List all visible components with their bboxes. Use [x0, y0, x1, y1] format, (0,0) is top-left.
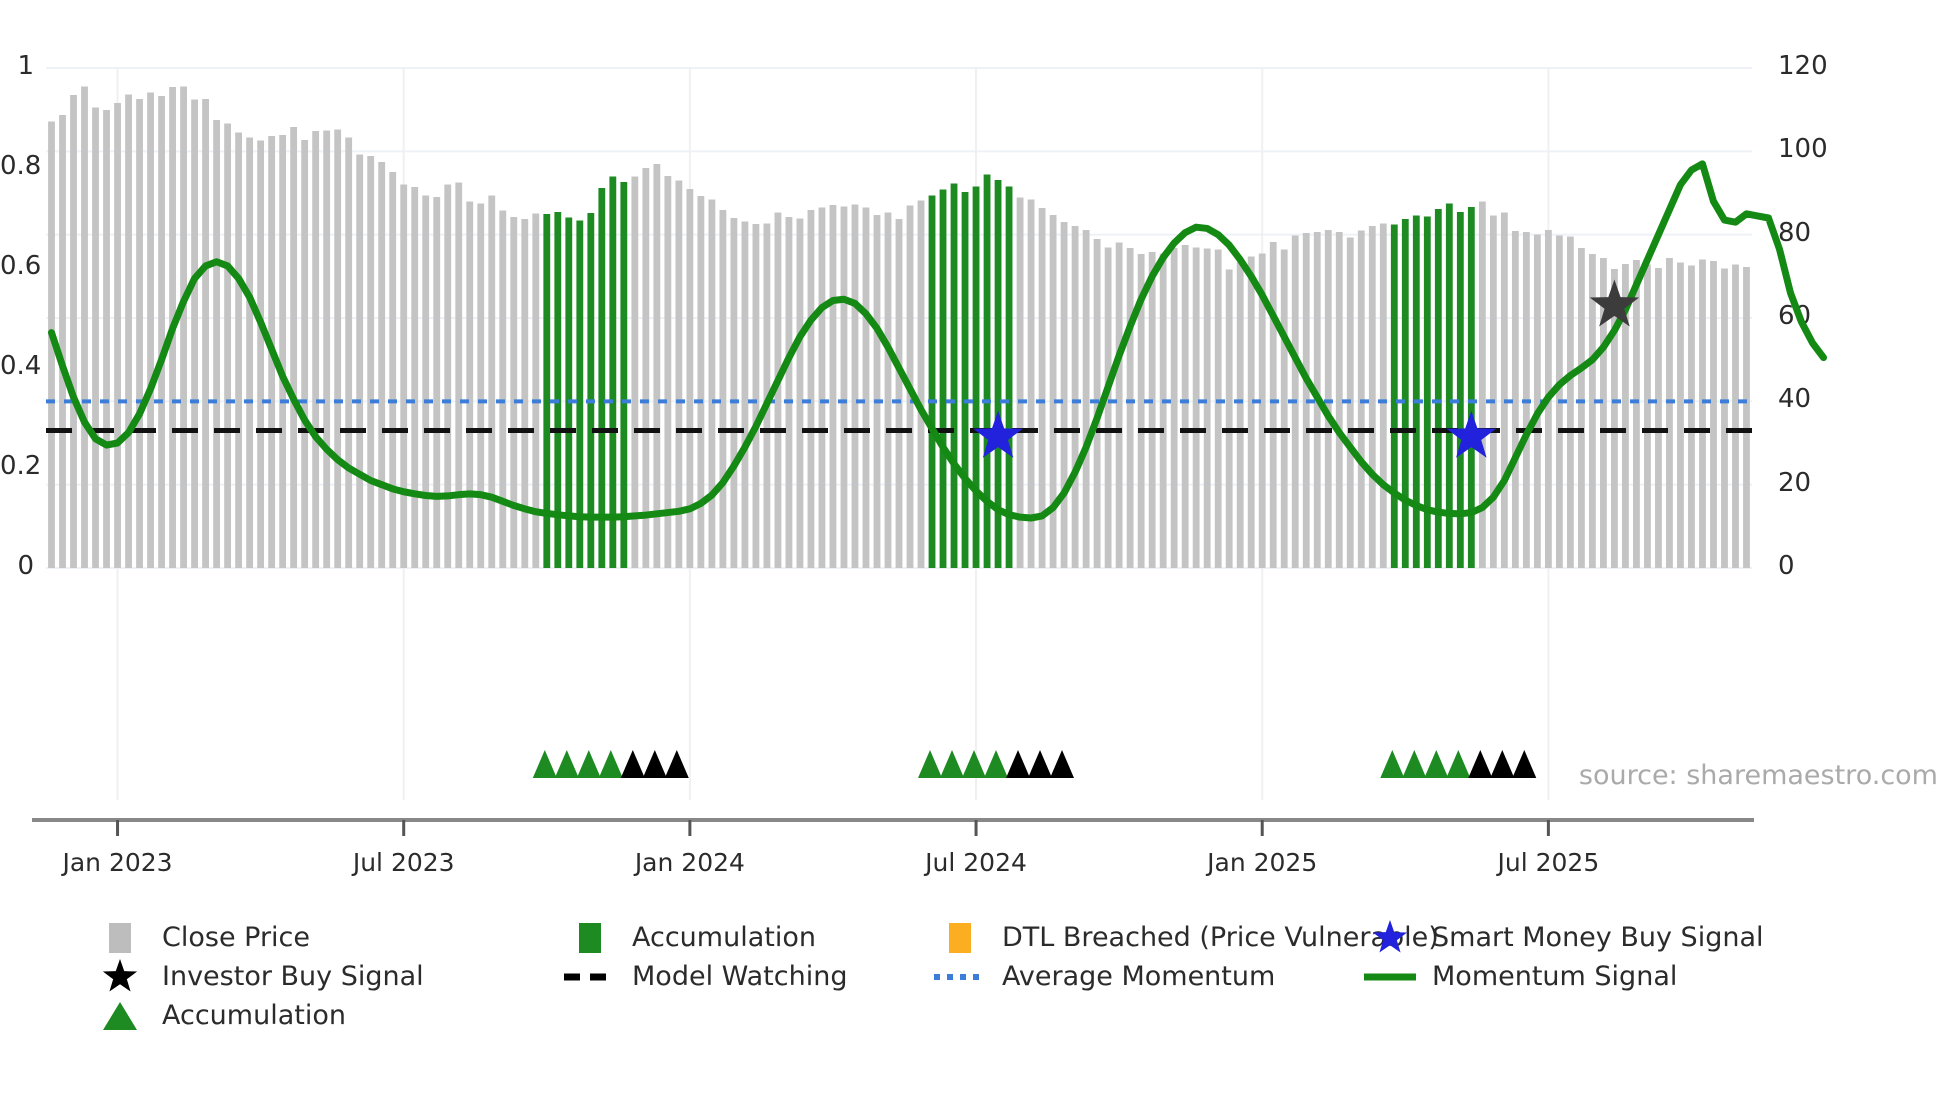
accumulation-bar [973, 187, 980, 569]
close-price-bar [841, 207, 848, 569]
distribution-triangle-icon [665, 750, 689, 778]
close-price-bar [246, 138, 253, 569]
close-price-bar [378, 162, 385, 568]
accumulation-triangle-icon [577, 750, 601, 778]
close-price-bar [1028, 200, 1035, 569]
close-price-bar [1501, 213, 1508, 569]
close-price-bar [224, 124, 231, 569]
close-price-bar [510, 217, 517, 568]
distribution-triangle-icon [1468, 750, 1492, 778]
close-price-bar [114, 103, 121, 568]
accumulation-triangle-icon [1380, 750, 1404, 778]
close-price-bar [1017, 198, 1024, 569]
accumulation-triangle-icon [1424, 750, 1448, 778]
accumulation-bar [951, 184, 958, 569]
close-price-bar [1127, 248, 1134, 568]
close-price-bar [786, 217, 793, 568]
accumulation-bar [929, 196, 936, 569]
close-price-bar [808, 210, 815, 568]
accumulation-bar [1402, 219, 1409, 568]
distribution-triangle-icon [1006, 750, 1030, 778]
legend-item[interactable]: Model Watching [562, 957, 932, 996]
close-price-bar [1215, 250, 1222, 569]
close-price-bar [1369, 226, 1376, 568]
blue-star-icon [1370, 919, 1410, 957]
close-price-bar [1072, 226, 1079, 568]
gray-square-icon-wrap [92, 923, 148, 953]
close-price-bar [830, 205, 837, 568]
dashed-line-icon [562, 970, 618, 984]
chart-legend: Close PriceAccumulationDTL Breached (Pri… [92, 918, 1922, 1035]
green-square-icon [579, 923, 601, 953]
distribution-triangle-icon [1050, 750, 1074, 778]
close-price-bar [1567, 237, 1574, 569]
close-price-bar [323, 131, 330, 569]
close-price-bar [1710, 261, 1717, 568]
accumulation-triangle-icon [984, 750, 1008, 778]
close-price-bar [1237, 262, 1244, 569]
close-price-bar [1336, 232, 1343, 568]
legend-item[interactable]: Accumulation [562, 918, 932, 957]
close-price-bar [1061, 222, 1068, 568]
close-price-bar [1281, 250, 1288, 569]
close-price-bar [180, 87, 187, 569]
close-price-bar [312, 131, 319, 568]
close-price-bar [1490, 216, 1497, 569]
close-price-bar [1270, 242, 1277, 568]
close-price-bar [158, 96, 165, 568]
distribution-triangle-icon [643, 750, 667, 778]
close-price-bar [863, 208, 870, 569]
close-price-bar [1149, 252, 1156, 568]
close-price-bar [411, 187, 418, 568]
close-price-bar [400, 185, 407, 569]
green-triangle-icon [100, 999, 140, 1033]
close-price-bar [1204, 249, 1211, 569]
distribution-triangle-icon [1490, 750, 1514, 778]
close-price-bar [499, 211, 506, 569]
legend-item[interactable]: DTL Breached (Price Vulnerable) [932, 918, 1362, 957]
close-price-bar [202, 99, 209, 568]
solid-line-icon-wrap [1362, 970, 1418, 984]
accumulation-bar [620, 182, 627, 568]
accumulation-triangle-icon [599, 750, 623, 778]
close-price-bar [367, 156, 374, 568]
green-triangle-icon-wrap [92, 999, 148, 1033]
close-price-bar [642, 168, 649, 568]
close-price-bar [730, 218, 737, 568]
close-price-bar [301, 140, 308, 568]
close-price-bar [1325, 230, 1332, 568]
close-price-bar [92, 108, 99, 569]
black-star-icon [100, 958, 140, 996]
blue-star-icon-wrap [1362, 919, 1418, 957]
close-price-bar [1688, 266, 1695, 569]
close-price-bar [1721, 269, 1728, 569]
black-star-icon-wrap [92, 958, 148, 996]
close-price-bar [59, 115, 66, 568]
close-price-bar [455, 183, 462, 569]
close-price-bar [1677, 263, 1684, 569]
close-price-bar [1171, 248, 1178, 568]
dotted-line-icon-wrap [932, 970, 988, 984]
close-price-bar [742, 222, 749, 569]
close-price-bar [433, 197, 440, 568]
close-price-bar [631, 177, 638, 569]
legend-item-label: Momentum Signal [1432, 963, 1677, 990]
source-credit: source: sharemaestro.com [1579, 760, 1938, 791]
close-price-bar [136, 99, 143, 568]
legend-item[interactable]: Smart Money Buy Signal [1362, 918, 1762, 957]
close-price-bar [753, 224, 760, 568]
green-square-icon-wrap [562, 923, 618, 953]
close-price-bar [70, 95, 77, 568]
close-price-bar [1578, 248, 1585, 568]
close-price-bar [719, 210, 726, 568]
solid-line-icon [1362, 970, 1418, 984]
accumulation-triangle-icon [555, 750, 579, 778]
legend-item-label: Accumulation [632, 924, 816, 951]
accumulation-triangle-icon [940, 750, 964, 778]
close-price-bar [1534, 235, 1541, 569]
accumulation-bar [984, 175, 991, 569]
legend-item[interactable]: Average Momentum [932, 957, 1362, 996]
close-price-bar [235, 133, 242, 569]
accumulation-triangle-icon [1446, 750, 1470, 778]
momentum-accumulation-chart: 00.20.40.60.81 020406080100120 Jan 2023J… [0, 0, 1960, 1102]
close-price-bar [1160, 254, 1167, 569]
close-price-bar [290, 127, 297, 568]
accumulation-triangle-markers [533, 750, 1536, 778]
close-price-bar [1644, 265, 1651, 569]
accumulation-bar [962, 192, 969, 568]
accumulation-bar [609, 177, 616, 569]
accumulation-bar [1424, 217, 1431, 569]
legend-item-label: Smart Money Buy Signal [1432, 924, 1764, 951]
accumulation-triangle-icon [1402, 750, 1426, 778]
close-price-bar [1105, 248, 1112, 569]
accumulation-bar [1391, 225, 1398, 569]
close-price-bar [125, 95, 132, 569]
close-price-bar [874, 215, 881, 568]
distribution-triangle-icon [1028, 750, 1052, 778]
legend-item[interactable]: Investor Buy Signal [92, 957, 562, 996]
close-price-bar [147, 93, 154, 569]
close-price-bar [422, 196, 429, 569]
dotted-line-icon [932, 970, 988, 984]
legend-item[interactable]: Momentum Signal [1362, 957, 1762, 996]
legend-item-label: Investor Buy Signal [162, 963, 424, 990]
close-price-bar [819, 208, 826, 569]
close-price-bar [1050, 215, 1057, 568]
close-price-bar [1248, 257, 1255, 569]
close-price-bar [797, 219, 804, 569]
close-price-bar [1699, 260, 1706, 569]
close-price-bar [885, 213, 892, 569]
accumulation-bar [1413, 216, 1420, 569]
close-price-bar [1479, 202, 1486, 569]
legend-item-label: Average Momentum [1002, 963, 1275, 990]
legend-item-label: Close Price [162, 924, 310, 951]
accumulation-bar [598, 188, 605, 568]
close-price-bar [1358, 231, 1365, 569]
close-price-bar [1380, 224, 1387, 569]
close-price-bar [444, 185, 451, 569]
close-price-bar [1116, 243, 1123, 569]
gray-square-icon [109, 923, 131, 953]
close-price-bar [852, 205, 859, 569]
orange-square-icon [949, 923, 971, 953]
dashed-line-icon-wrap [562, 970, 618, 984]
distribution-triangle-icon [621, 750, 645, 778]
close-price-bar [334, 130, 341, 569]
close-price-bar [466, 202, 473, 569]
close-price-bar [279, 135, 286, 568]
close-price-bar [1732, 265, 1739, 569]
distribution-triangle-icon [1512, 750, 1536, 778]
close-price-bar [1655, 268, 1662, 568]
close-price-bar [1226, 270, 1233, 569]
close-price-bar [1633, 260, 1640, 568]
close-price-bar [1193, 248, 1200, 569]
close-price-bar [697, 196, 704, 568]
close-price-bar [1182, 245, 1189, 568]
close-price-bar [1743, 267, 1750, 568]
legend-item[interactable]: Close Price [92, 918, 562, 957]
accumulation-triangle-icon [533, 750, 557, 778]
accumulation-triangle-icon [962, 750, 986, 778]
close-price-bar [356, 155, 363, 569]
legend-item-label: Accumulation [162, 1002, 346, 1029]
close-price-bar [389, 172, 396, 568]
close-price-bar [191, 100, 198, 569]
legend-item[interactable]: Accumulation [92, 996, 562, 1035]
close-price-bar [896, 219, 903, 568]
accumulation-triangle-icon [918, 750, 942, 778]
close-price-bar [708, 200, 715, 569]
orange-square-icon-wrap [932, 923, 988, 953]
close-price-bar [81, 87, 88, 569]
close-price-bar [1083, 230, 1090, 568]
close-price-bar [653, 164, 660, 568]
close-price-bar [488, 196, 495, 569]
accumulation-bar [940, 190, 947, 569]
close-price-bar [345, 138, 352, 569]
close-price-bar [213, 120, 220, 568]
close-price-bar [521, 219, 528, 568]
close-price-bar [1666, 258, 1673, 568]
close-price-bar [477, 204, 484, 569]
close-price-bar [918, 201, 925, 569]
close-price-bar [257, 141, 264, 569]
close-price-bar [103, 110, 110, 568]
legend-item-label: Model Watching [632, 963, 847, 990]
